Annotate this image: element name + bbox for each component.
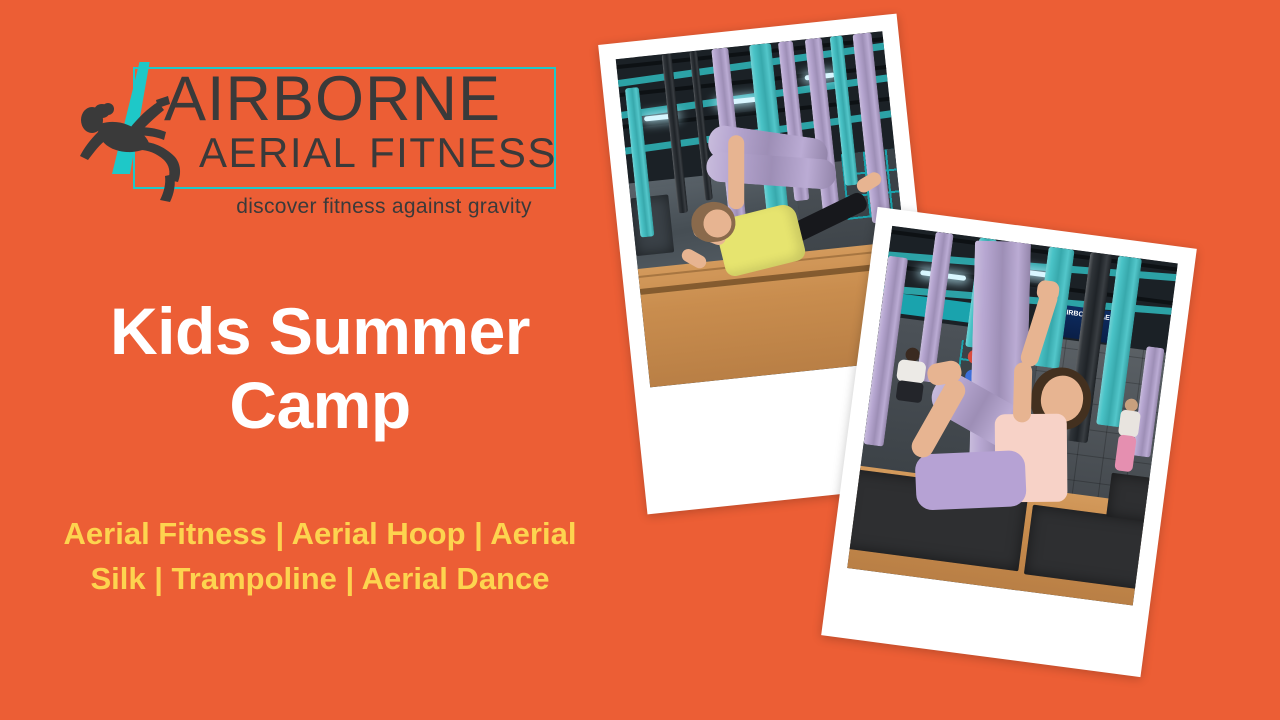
logo-wordmark: AIRBORNE AERIAL FITNESS bbox=[164, 71, 564, 174]
logo-tagline: discover fitness against gravity bbox=[184, 195, 584, 219]
photo-2-image: AIRBORNE AERIAL FITNESS bbox=[847, 226, 1178, 606]
page-title: Kids Summer Camp bbox=[50, 295, 590, 443]
brand-logo: AIRBORNE AERIAL FITNESS discover fitness… bbox=[78, 52, 578, 237]
left-content-column: AIRBORNE AERIAL FITNESS discover fitness… bbox=[0, 0, 620, 720]
poster-canvas: AIRBORNE AERIAL FITNESS discover fitness… bbox=[0, 0, 1280, 720]
photo-2-background-person bbox=[894, 346, 935, 404]
logo-brand-line-1: AIRBORNE bbox=[164, 71, 564, 129]
logo-brand-line-2: AERIAL FITNESS bbox=[199, 132, 564, 174]
polaroid-photo-2: AIRBORNE AERIAL FITNESS bbox=[821, 207, 1197, 677]
activities-list: Aerial Fitness | Aerial Hoop | Aerial Si… bbox=[60, 512, 580, 602]
